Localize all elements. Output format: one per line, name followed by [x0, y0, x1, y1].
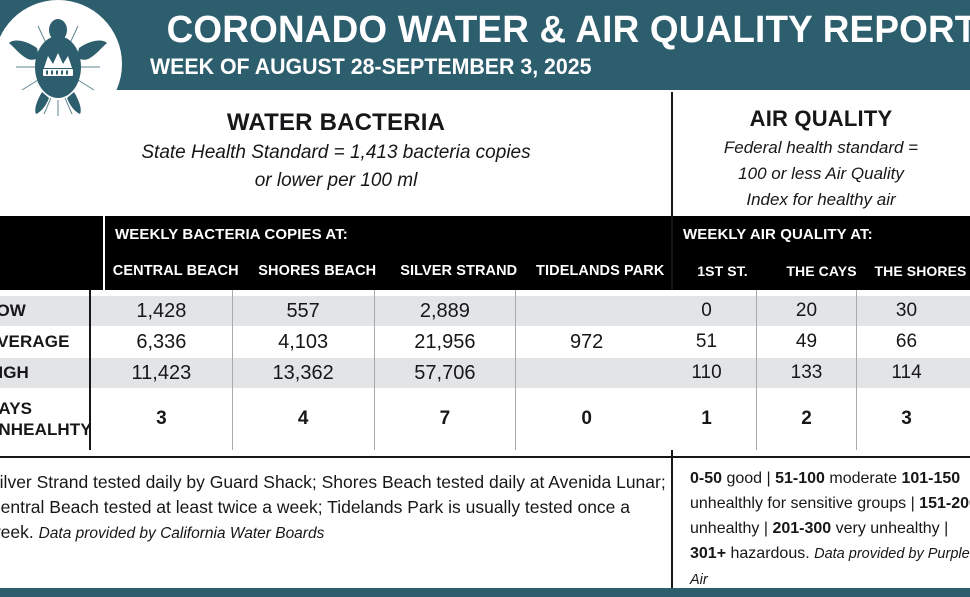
cell-high-shores-beach: 13,362: [232, 358, 374, 388]
cell-days-tidelands-park: 0: [515, 388, 657, 450]
water-standard-line1: State Health Standard = 1,413 bacteria c…: [0, 140, 672, 166]
cell-high-central-beach: 11,423: [89, 358, 232, 388]
bacteria-group-header: WEEKLY BACTERIA COPIES AT:: [115, 226, 348, 243]
table-row: AVERAGE 6,336 4,103 21,956 972 51 49 66: [0, 326, 970, 358]
cell-days-the-cays: 2: [756, 388, 856, 450]
header-banner: CORONADO WATER & AIR QUALITY REPORT WEEK…: [0, 0, 970, 90]
page-subtitle: WEEK OF AUGUST 28-SEPTEMBER 3, 2025: [150, 54, 938, 80]
table-row: LOW 1,428 557 2,889 0 20 30: [0, 296, 970, 326]
air-header-block: WEEKLY AIR QUALITY AT: 1ST ST. THE CAYS …: [673, 216, 970, 290]
row-label-days-line2: UNHEALHTY: [0, 419, 92, 440]
col-header-the-cays: THE CAYS: [772, 256, 871, 286]
cell-low-the-shores: 30: [856, 296, 956, 326]
water-footnote-source: Data provided by California Water Boards: [39, 525, 325, 542]
cell-low-silver-strand: 2,889: [374, 296, 516, 326]
report-page: CORONADO WATER & AIR QUALITY REPORT WEEK…: [0, 0, 970, 597]
cell-days-central-beach: 3: [89, 388, 232, 450]
bacteria-column-headers: CENTRAL BEACH SHORES BEACH SILVER STRAND…: [105, 256, 671, 286]
air-heading: AIR QUALITY: [672, 104, 970, 134]
cell-low-central-beach: 1,428: [89, 296, 232, 326]
bacteria-header-block: WEEKLY BACTERIA COPIES AT: CENTRAL BEACH…: [105, 216, 671, 290]
col-header-central-beach: CENTRAL BEACH: [105, 256, 247, 286]
aqi-label-151-200: unhealthy |: [690, 520, 772, 537]
col-header-1st-st: 1ST ST.: [673, 256, 772, 286]
bottom-accent-bar: [0, 588, 970, 597]
row-label-average: AVERAGE: [0, 326, 89, 358]
row-label-low: LOW: [0, 296, 89, 326]
aqi-label-0-50: good |: [722, 470, 775, 487]
row-label-high: HIGH: [0, 358, 89, 388]
cell-low-1st-st: 0: [657, 296, 756, 326]
cell-high-the-shores: 114: [856, 358, 956, 388]
table-row: HIGH 11,423 13,362 57,706 110 133 114: [0, 358, 970, 388]
cell-days-the-shores: 3: [856, 388, 956, 450]
air-column-headers: 1ST ST. THE CAYS THE SHORES: [673, 256, 970, 286]
water-heading: WATER BACTERIA: [0, 108, 672, 138]
col-header-the-shores: THE SHORES: [871, 256, 970, 286]
aqi-range-151-200: 151-200: [919, 495, 970, 512]
air-quality-scale-footnote: 0-50 good | 51-100 moderate 101-150 unhe…: [690, 466, 970, 593]
air-section-heading: AIR QUALITY Federal health standard = 10…: [672, 90, 970, 216]
cell-average-tidelands-park: 972: [515, 326, 657, 358]
title-block: CORONADO WATER & AIR QUALITY REPORT WEEK…: [142, 8, 962, 80]
cell-average-1st-st: 51: [657, 326, 756, 358]
cell-low-the-cays: 20: [756, 296, 856, 326]
cell-low-tidelands-park: [515, 296, 657, 326]
air-standard-line3: Index for healthy air: [672, 188, 970, 212]
cell-low-shores-beach: 557: [232, 296, 374, 326]
cell-high-1st-st: 110: [657, 358, 756, 388]
cell-average-the-cays: 49: [756, 326, 856, 358]
water-section-heading: WATER BACTERIA State Health Standard = 1…: [0, 90, 672, 216]
table-header-corner: [0, 216, 103, 290]
aqi-range-101-150: 101-150: [901, 470, 960, 487]
row-label-days-unhealthy: DAYS UNHEALHTY: [0, 388, 89, 450]
cell-high-the-cays: 133: [756, 358, 856, 388]
air-standard-line1: Federal health standard =: [672, 136, 970, 160]
aqi-range-51-100: 51-100: [775, 470, 825, 487]
aqi-range-201-300: 201-300: [772, 520, 831, 537]
cell-days-1st-st: 1: [657, 388, 756, 450]
table-body: LOW 1,428 557 2,889 0 20 30 AVERAGE 6,33…: [0, 290, 970, 458]
table-bottom-border: [0, 456, 970, 458]
page-title: CORONADO WATER & AIR QUALITY REPORT: [167, 8, 962, 52]
aqi-label-301-plus: hazardous.: [726, 545, 814, 562]
data-table: WEEKLY BACTERIA COPIES AT: CENTRAL BEACH…: [0, 216, 970, 458]
col-header-silver-strand: SILVER STRAND: [388, 256, 530, 286]
water-footnote: Silver Strand tested daily by Guard Shac…: [0, 470, 678, 546]
col-header-shores-beach: SHORES BEACH: [247, 256, 389, 286]
cell-average-shores-beach: 4,103: [232, 326, 374, 358]
aqi-range-301-plus: 301+: [690, 545, 726, 562]
air-group-header: WEEKLY AIR QUALITY AT:: [683, 226, 873, 243]
air-standard-line2: 100 or less Air Quality: [672, 162, 970, 186]
row-label-days-line1: DAYS: [0, 398, 32, 419]
water-standard-line2: or lower per 100 ml: [0, 168, 672, 194]
aqi-label-101-150: unhealthly for sensitive groups |: [690, 495, 919, 512]
table-row: DAYS UNHEALHTY 3 4 7 0 1 2 3: [0, 388, 970, 450]
cell-high-tidelands-park: [515, 358, 657, 388]
cell-average-silver-strand: 21,956: [374, 326, 516, 358]
cell-days-silver-strand: 7: [374, 388, 516, 450]
section-headings: WATER BACTERIA State Health Standard = 1…: [0, 90, 970, 216]
cell-high-silver-strand: 57,706: [374, 358, 516, 388]
aqi-label-51-100: moderate: [825, 470, 901, 487]
aqi-range-0-50: 0-50: [690, 470, 722, 487]
col-header-tidelands-park: TIDELANDS PARK: [530, 256, 672, 286]
cell-average-the-shores: 66: [856, 326, 956, 358]
cell-average-central-beach: 6,336: [89, 326, 232, 358]
cell-days-shores-beach: 4: [232, 388, 374, 450]
aqi-label-201-300: very unhealthy |: [831, 520, 948, 537]
